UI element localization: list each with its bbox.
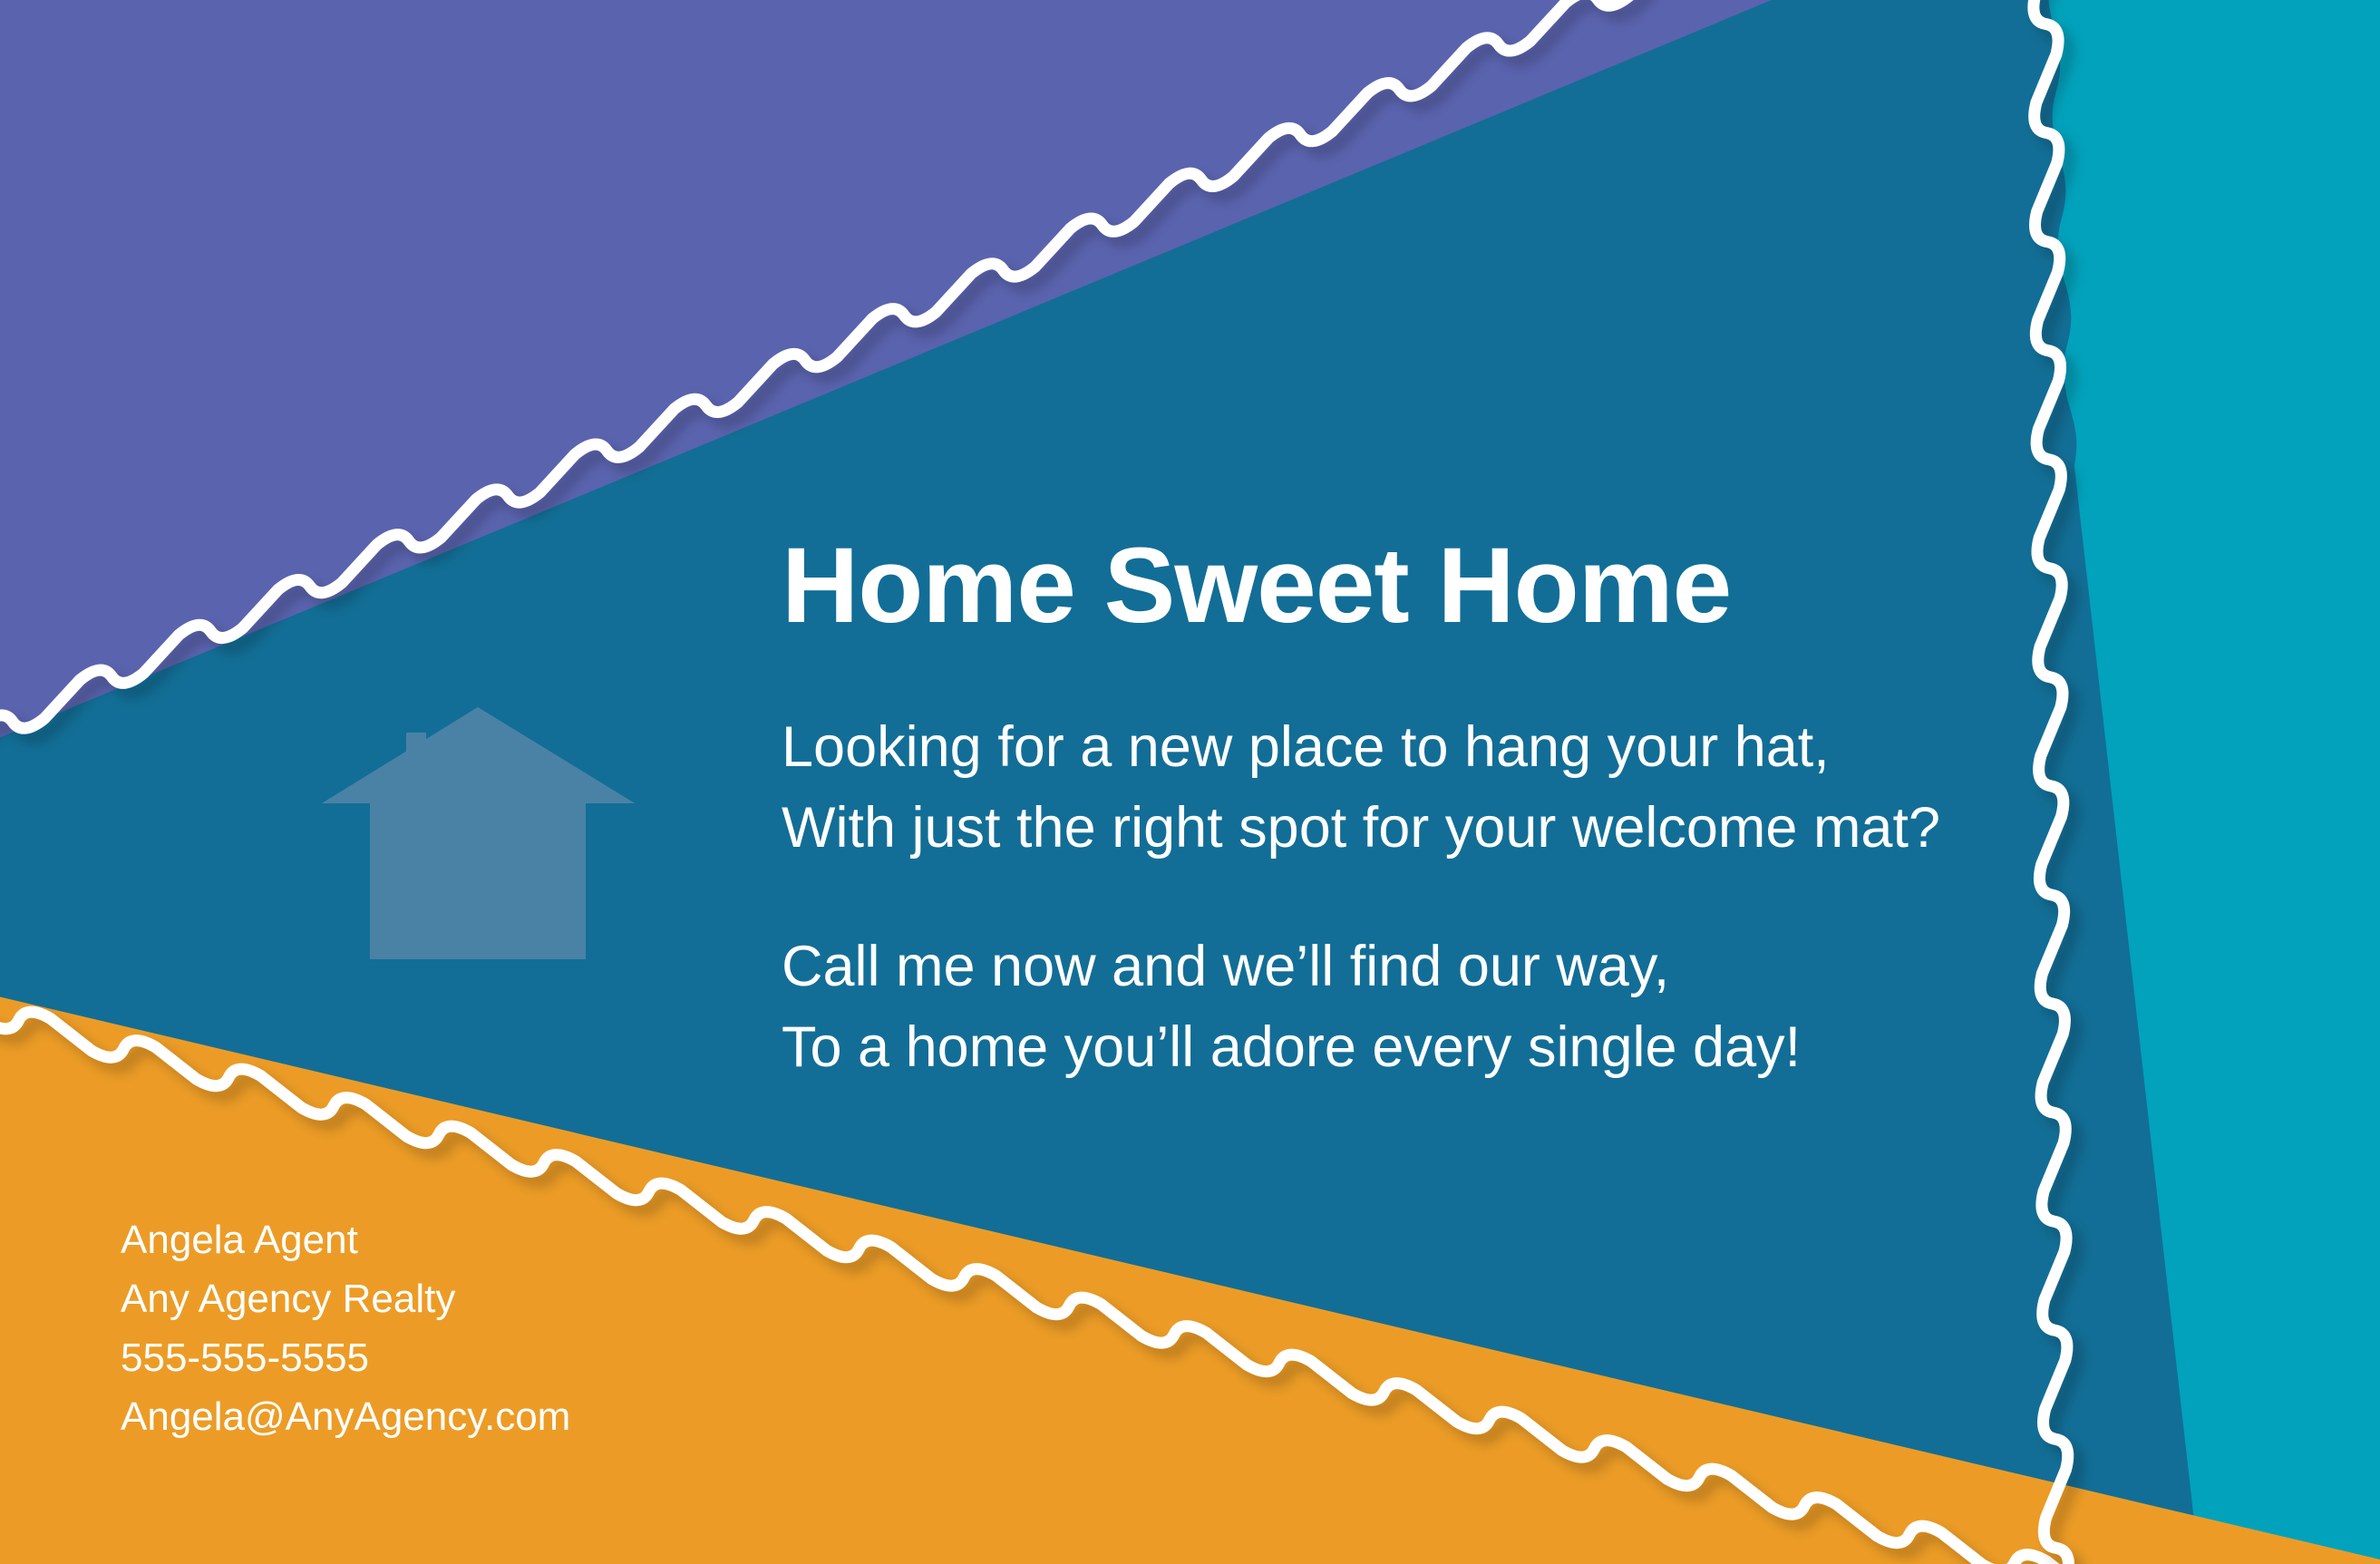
stanza-1-line-1: Looking for a new place to hang your hat… bbox=[782, 707, 2096, 788]
stanza-1: Looking for a new place to hang your hat… bbox=[782, 707, 2096, 869]
agent-email[interactable]: Angela@AnyAgency.com bbox=[121, 1387, 570, 1446]
postcard-canvas: Home Sweet Home Looking for a new place … bbox=[0, 0, 2380, 1564]
stanza-2-line-2: To a home you’ll adore every single day! bbox=[782, 1007, 2096, 1088]
agent-name: Angela Agent bbox=[121, 1210, 570, 1269]
page-title: Home Sweet Home bbox=[782, 532, 1731, 639]
house-icon bbox=[322, 698, 635, 970]
agent-phone[interactable]: 555-555-5555 bbox=[121, 1328, 570, 1387]
house-icon-svg bbox=[322, 698, 635, 970]
contact-block: Angela Agent Any Agency Realty 555-555-5… bbox=[121, 1210, 570, 1446]
stanza-1-line-2: With just the right spot for your welcom… bbox=[782, 788, 2096, 869]
stanza-2-line-1: Call me now and we’ll find our way, bbox=[782, 927, 2096, 1007]
agency-name: Any Agency Realty bbox=[121, 1269, 570, 1328]
body-copy: Looking for a new place to hang your hat… bbox=[782, 707, 2096, 1089]
stanza-2: Call me now and we’ll find our way, To a… bbox=[782, 927, 2096, 1089]
